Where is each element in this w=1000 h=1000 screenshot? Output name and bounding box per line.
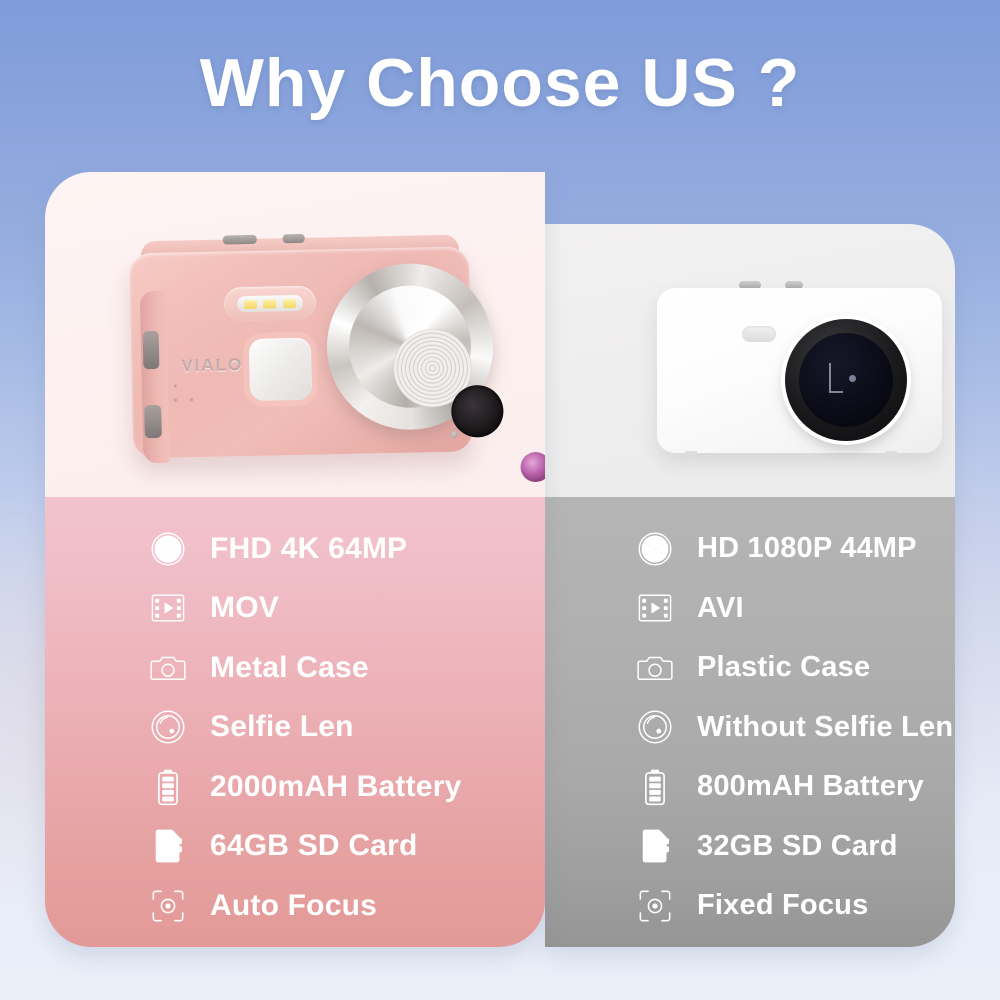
competitor-feature-panel: HD 1080P 44MPAVIPlastic CaseWithout Self… (545, 497, 955, 947)
flash-leds (237, 295, 303, 312)
feature-label: Plastic Case (697, 651, 870, 684)
feature-label: Fixed Focus (697, 889, 868, 922)
lens-glass (520, 452, 545, 483)
camera-side-button-top (143, 331, 160, 369)
lens-aperture (451, 385, 504, 438)
lens-icon (148, 707, 188, 747)
feature-label: Metal Case (210, 651, 369, 685)
camera-lens-barrel (785, 319, 907, 441)
aperture-icon (148, 529, 188, 569)
competitor-product-card: HD 1080P 44MPAVIPlastic CaseWithout Self… (545, 224, 955, 947)
feature-label: MOV (210, 591, 279, 625)
battery-icon (635, 767, 675, 807)
indicator-dot (174, 399, 177, 402)
lens-marking (829, 363, 843, 393)
aperture-icon (635, 529, 675, 569)
feature-row: Fixed Focus (545, 876, 955, 936)
camera-foot (885, 451, 897, 457)
feature-label: AVI (697, 592, 744, 625)
camera-foot (685, 451, 697, 457)
white-camera-image (657, 276, 947, 461)
feature-row: Selfie Len (45, 698, 545, 758)
lens-glass (849, 375, 856, 382)
indicator-dot (174, 385, 177, 388)
camera-flash (742, 326, 776, 342)
feature-row: AVI (545, 579, 955, 639)
battery-icon (148, 767, 188, 807)
competitor-feature-list: HD 1080P 44MPAVIPlastic CaseWithout Self… (545, 519, 955, 936)
body-screw (451, 431, 458, 438)
feature-row: Auto Focus (45, 876, 545, 936)
power-button (283, 234, 305, 243)
camera-flash (224, 286, 317, 322)
sd-card-icon (635, 826, 675, 866)
feature-label: Without Selfie Len (697, 711, 953, 744)
feature-label: Selfie Len (210, 710, 354, 744)
our-product-card: VIALO (45, 172, 545, 947)
brand-logo: VIALO (181, 355, 243, 376)
comparison-infographic: Why Choose US ? (0, 0, 1000, 1000)
feature-label: 32GB SD Card (697, 830, 898, 863)
camera-body: VIALO (129, 246, 473, 458)
feature-label: 800mAH Battery (697, 770, 924, 803)
feature-row: HD 1080P 44MP (545, 519, 955, 579)
feature-label: 64GB SD Card (210, 829, 417, 863)
flash-led (283, 299, 296, 308)
feature-label: Auto Focus (210, 889, 377, 923)
focus-target-icon (635, 886, 675, 926)
page-title: Why Choose US ? (0, 46, 1000, 121)
camera-icon (148, 648, 188, 688)
lens-thread-ring (393, 328, 473, 408)
camera-side-button-bottom (144, 405, 162, 438)
pink-camera-image: VIALO (111, 224, 486, 472)
focus-target-icon (148, 886, 188, 926)
feature-row: 64GB SD Card (45, 817, 545, 877)
camera-body (657, 288, 942, 453)
flash-led (263, 299, 276, 308)
lens-mid-ring (348, 284, 473, 409)
film-strip-icon (148, 588, 188, 628)
feature-row: Plastic Case (545, 638, 955, 698)
feature-row: Metal Case (45, 638, 545, 698)
competitor-product-photo (545, 224, 955, 497)
feature-row: MOV (45, 579, 545, 639)
indicator-dots (174, 384, 208, 407)
feature-row: FHD 4K 64MP (45, 519, 545, 579)
feature-label: FHD 4K 64MP (210, 532, 407, 566)
our-feature-list: FHD 4K 64MPMOVMetal CaseSelfie Len2000mA… (45, 519, 545, 936)
selfie-mirror (249, 338, 312, 401)
our-feature-panel: FHD 4K 64MPMOVMetal CaseSelfie Len2000mA… (45, 497, 545, 947)
feature-label: 2000mAH Battery (210, 770, 461, 804)
feature-row: 2000mAH Battery (45, 757, 545, 817)
lens-aperture (799, 333, 893, 427)
flash-led (244, 299, 257, 308)
feature-row: 32GB SD Card (545, 817, 955, 877)
sd-card-icon (148, 826, 188, 866)
shutter-button (223, 235, 257, 245)
feature-row: 800mAH Battery (545, 757, 955, 817)
film-strip-icon (635, 588, 675, 628)
feature-row: Without Selfie Len (545, 698, 955, 758)
our-product-photo: VIALO (45, 172, 545, 497)
feature-label: HD 1080P 44MP (697, 532, 917, 565)
camera-icon (635, 648, 675, 688)
comparison-board: VIALO (45, 172, 955, 947)
indicator-dot (190, 398, 193, 401)
lens-icon (635, 707, 675, 747)
camera-lens-barrel (325, 262, 494, 431)
